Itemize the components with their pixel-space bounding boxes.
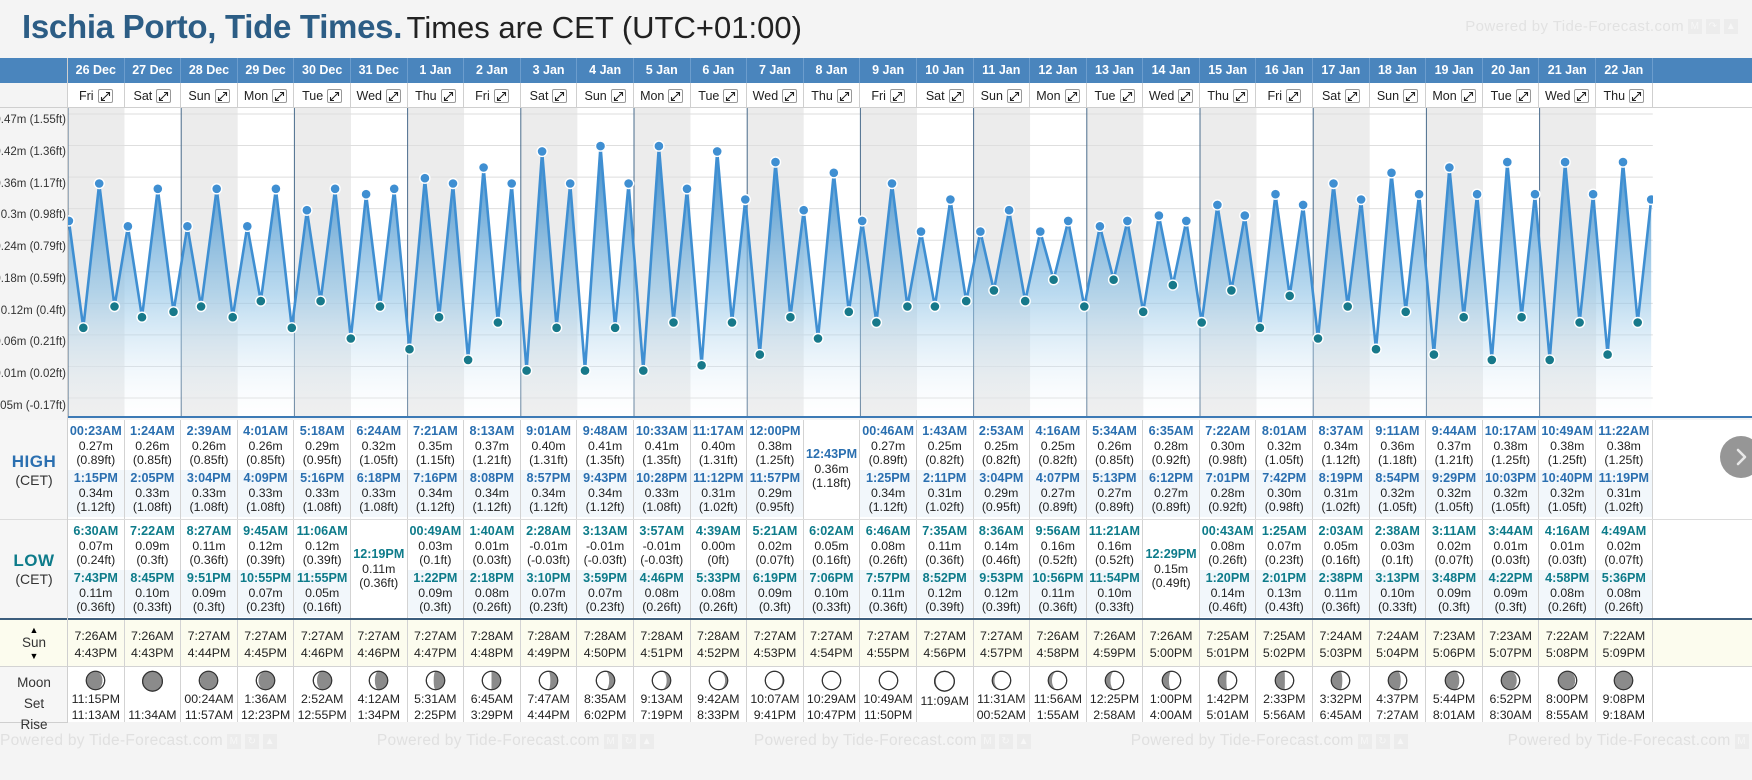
expand-icon[interactable] [1403, 89, 1418, 103]
low-tide-point [1313, 334, 1323, 344]
low-label: LOW [13, 551, 54, 571]
tide-time: 00:49AM [408, 524, 464, 539]
sun-cell-26: 7:22AM5:08PM [1539, 620, 1596, 666]
date-header-21[interactable]: 16 Jan [1256, 58, 1313, 83]
moonset-time: 11:09AM [921, 694, 969, 709]
date-header-6[interactable]: 1 Jan [408, 58, 465, 83]
page-header: Ischia Porto, Tide Times. Times are CET … [0, 0, 1752, 58]
moonset-time: 6:52PM [1489, 692, 1531, 707]
weekday-label: Mon [640, 84, 664, 108]
high-tide-point [857, 216, 867, 226]
low-tide-point [346, 334, 356, 344]
date-header-20[interactable]: 15 Jan [1200, 58, 1257, 83]
tide-height-ft: (1.21ft) [464, 453, 520, 468]
tide-time: 10:49AM [1539, 424, 1595, 439]
high-tide-point [389, 184, 399, 194]
sunset-time: 4:47PM [408, 646, 464, 660]
tide-time: 4:49AM [1596, 524, 1652, 539]
expand-icon[interactable] [1574, 89, 1589, 103]
expand-icon[interactable] [1233, 89, 1248, 103]
moon-cell-3: 1:36AM12:23PM [238, 667, 295, 722]
tide-height-ft: (0.92ft) [1200, 500, 1256, 515]
tide-height-m: 0.26m [238, 439, 294, 454]
tide-entry: 12:19PM0.11m(0.36ft) [351, 546, 407, 593]
tide-time: 7:43PM [68, 571, 124, 586]
tide-time: 11:54PM [1087, 571, 1143, 586]
low-tide-row: 6:30AM0.07m(0.24ft)7:43PM0.11m(0.36ft)7:… [68, 519, 1752, 618]
moonset-time: 2:52AM [301, 692, 343, 707]
tide-height-m: 0.09m [181, 586, 237, 601]
tide-entry: 7:42PM0.30m(0.98ft) [1256, 470, 1312, 517]
tide-time: 2:05PM [125, 471, 181, 486]
tide-time: 1:20PM [1200, 571, 1256, 586]
tide-height-ft: (0.3ft) [1426, 600, 1482, 615]
tide-entry: 4:46PM0.08m(0.26ft) [634, 570, 690, 617]
tide-height-m: 0.25m [974, 439, 1030, 454]
high-tide-point [1414, 189, 1424, 199]
tide-entry: 8:27AM0.11m(0.36ft) [181, 523, 237, 570]
date-header-3[interactable]: 29 Dec [238, 58, 295, 83]
tide-time: 8:08PM [464, 471, 520, 486]
tide-entry: 5:18AM0.29m(0.95ft) [294, 423, 350, 470]
tide-height-ft: (0.23ft) [521, 600, 577, 615]
low-tide-point [1197, 318, 1207, 328]
date-header-13[interactable]: 8 Jan [804, 58, 861, 83]
low-tide-point [961, 296, 971, 306]
moon-cell-14: 10:49AM11:50PM [860, 667, 917, 722]
tide-height-ft: (0.3ft) [181, 600, 237, 615]
sunrise-time: 7:24AM [1370, 629, 1426, 643]
tide-entry: 00:23AM0.27m(0.89ft) [68, 423, 124, 470]
moonrise-time: 4:00AM [1150, 708, 1192, 722]
expand-icon[interactable] [668, 89, 683, 103]
moonrise-time: 8:55AM [1546, 708, 1588, 722]
high-tide-cell-23: 9:11AM0.36m(1.18ft)8:54PM0.32m(1.05ft) [1370, 420, 1427, 519]
tide-height-m: 0.00m [691, 539, 747, 554]
tide-height-ft: (0.49ft) [1143, 576, 1199, 591]
low-tide-point [697, 360, 707, 370]
tide-height-ft: (0.26ft) [464, 600, 520, 615]
footer-logo-icon-2: ▲ [1394, 734, 1408, 749]
tide-entry: 1:25PM0.34m(1.12ft) [860, 470, 916, 517]
moon-cell-22: 3:32PM6:45AM [1313, 667, 1370, 722]
low-tide-cell-22: 2:03AM0.05m(0.16ft)2:38PM0.11m(0.36ft) [1313, 520, 1370, 618]
sun-row-label: ▲ Sun ▼ [0, 618, 68, 666]
tide-height-ft: (0.1ft) [408, 553, 464, 568]
low-tide-cell-18: 11:21AM0.16m(0.52ft)11:54PM0.10m(0.33ft) [1087, 520, 1144, 618]
date-row-corner [0, 58, 68, 83]
high-tide-point [887, 179, 897, 189]
sun-cell-6: 7:27AM4:47PM [408, 620, 465, 666]
logo-icon-1: M [1688, 19, 1702, 34]
sun-cell-2: 7:27AM4:44PM [181, 620, 238, 666]
date-header-7[interactable]: 2 Jan [464, 58, 521, 83]
tide-height-ft: (0.26ft) [860, 553, 916, 568]
low-tide-cell-14: 6:46AM0.08m(0.26ft)7:57PM0.11m(0.36ft) [860, 520, 917, 618]
moon-lit-area [492, 671, 501, 689]
expand-icon[interactable] [723, 89, 738, 103]
tide-height-m: 0.13m [1256, 586, 1312, 601]
tide-time: 2:01PM [1256, 571, 1312, 586]
date-header-15[interactable]: 10 Jan [917, 58, 974, 83]
date-header-5[interactable]: 31 Dec [351, 58, 408, 83]
low-tide-cell-3: 9:45AM0.12m(0.39ft)10:55PM0.07m(0.23ft) [238, 520, 295, 618]
tide-height-m: 0.29m [294, 439, 350, 454]
expand-icon[interactable] [494, 89, 509, 103]
tide-time: 3:04PM [974, 471, 1030, 486]
tide-entry: 4:22PM0.09m(0.3ft) [1483, 570, 1539, 617]
tide-height-ft: (0.95ft) [294, 453, 350, 468]
tide-height-m: 0.40m [691, 439, 747, 454]
tide-time: 8:54PM [1370, 471, 1426, 486]
high-tide-cell-4: 5:18AM0.29m(0.95ft)5:16PM0.33m(1.08ft) [294, 420, 351, 519]
tide-entry: 8:57PM0.34m(1.12ft) [521, 470, 577, 517]
date-header-26[interactable]: 21 Jan [1539, 58, 1596, 83]
tide-entry: 8:08PM0.34m(1.12ft) [464, 470, 520, 517]
tide-height-ft: (1.02ft) [691, 500, 747, 515]
tide-time: 6:24AM [351, 424, 407, 439]
tide-height-m: 0.07m [238, 586, 294, 601]
high-tide-point [829, 168, 839, 178]
expand-icon[interactable] [386, 89, 401, 103]
tide-height-m: 0.10m [804, 586, 860, 601]
tide-entry: 11:17AM0.40m(1.31ft) [691, 423, 747, 470]
tide-entry: 9:51PM0.09m(0.3ft) [181, 570, 237, 617]
moon-phase-icon [536, 670, 561, 691]
low-tide-point [375, 302, 385, 312]
date-header-12[interactable]: 7 Jan [747, 58, 804, 83]
high-tide-point [1271, 189, 1281, 199]
tide-entry: 5:13PM0.27m(0.89ft) [1087, 470, 1143, 517]
sun-cell-3: 7:27AM4:45PM [238, 620, 295, 666]
date-header-4[interactable]: 30 Dec [294, 58, 351, 83]
tide-time: 9:29PM [1426, 471, 1482, 486]
date-header-14[interactable]: 9 Jan [860, 58, 917, 83]
tide-height-m: 0.37m [464, 439, 520, 454]
sunset-time: 4:45PM [238, 646, 294, 660]
tide-time: 2:18PM [464, 571, 520, 586]
tide-time: 4:01AM [238, 424, 294, 439]
date-header-23[interactable]: 18 Jan [1370, 58, 1427, 83]
tide-entry: 3:59PM0.07m(0.23ft) [577, 570, 633, 617]
moon-phase-icon [310, 670, 335, 691]
tide-height-m: 0.07m [68, 539, 124, 554]
sunrise-time: 7:28AM [634, 629, 690, 643]
tide-height-ft: (0.85ft) [181, 453, 237, 468]
high-tide-point [1181, 216, 1191, 226]
tide-entry: 12:29PM0.15m(0.49ft) [1143, 546, 1199, 593]
sunset-time: 4:43PM [68, 646, 124, 660]
moon-cell-26: 8:00PM8:55AM [1539, 667, 1596, 722]
tide-entry: 10:33AM0.41m(1.35ft) [634, 423, 690, 470]
expand-icon[interactable] [1516, 89, 1531, 103]
high-tide-point [182, 221, 192, 231]
high-tide-cell-12: 12:00PM0.38m(1.25ft)11:57PM0.29m(0.95ft) [747, 420, 804, 519]
tide-height-ft: (0.23ft) [238, 600, 294, 615]
sunset-time: 4:59PM [1087, 646, 1143, 660]
high-tide-point [1004, 205, 1014, 215]
low-tide-point [1049, 275, 1059, 285]
expand-icon[interactable] [611, 89, 626, 103]
sunrise-arrow-icon: ▲ [22, 626, 46, 634]
high-tide-point [1530, 189, 1540, 199]
moonset-time: 12:25PM [1090, 692, 1139, 707]
gutter-divider [67, 58, 68, 722]
tide-height-ft: (0.26ft) [634, 600, 690, 615]
tide-time: 8:52PM [917, 571, 973, 586]
moonset-time: 8:35AM [584, 692, 626, 707]
tide-time: 7:42PM [1256, 471, 1312, 486]
moonrise-time: 9:41PM [754, 708, 796, 722]
tide-entry: 4:16AM0.01m(0.03ft) [1539, 523, 1595, 570]
tide-time: 7:21AM [408, 424, 464, 439]
high-tide-point [330, 184, 340, 194]
tide-height-ft: (1.12ft) [464, 500, 520, 515]
date-header-24[interactable]: 19 Jan [1426, 58, 1483, 83]
footer-watermark: Powered by Tide-Forecast.comM↻▲ [754, 732, 1031, 750]
tide-height-ft: (1.12ft) [68, 500, 124, 515]
tide-entry: 3:11AM0.02m(0.07ft) [1426, 523, 1482, 570]
expand-icon[interactable] [1345, 89, 1360, 103]
moon-cell-2: 00:24AM11:57AM [181, 667, 238, 722]
weekday-label: Sun [1377, 84, 1399, 108]
tide-height-ft: (0.3ft) [125, 553, 181, 568]
moon-phase-icon [593, 670, 618, 691]
weekday-header-19: Wed [1143, 83, 1200, 108]
high-tide-cell-6: 7:21AM0.35m(1.15ft)7:16PM0.34m(1.12ft) [408, 420, 465, 519]
expand-icon[interactable] [890, 89, 905, 103]
moon-cell-8: 7:47AM4:44PM [521, 667, 578, 722]
footer-logo-icon-2: ▲ [640, 734, 654, 749]
date-header-19[interactable]: 14 Jan [1143, 58, 1200, 83]
tide-height-m: 0.10m [125, 586, 181, 601]
tide-height-ft: (0.1ft) [1370, 553, 1426, 568]
date-header-8[interactable]: 3 Jan [521, 58, 578, 83]
expand-icon[interactable] [1629, 89, 1644, 103]
expand-icon[interactable] [327, 89, 342, 103]
tide-entry: 6:18PM0.33m(1.08ft) [351, 470, 407, 517]
moonrise-time: 11:13AM [72, 708, 120, 722]
tide-time: 9:01AM [521, 424, 577, 439]
tide-time: 1:25PM [860, 471, 916, 486]
tide-height-ft: (0.3ft) [408, 600, 464, 615]
tide-entry: 3:57AM-0.01m(-0.03ft) [634, 523, 690, 570]
tide-time: 9:45AM [238, 524, 294, 539]
tide-height-ft: (0.39ft) [294, 553, 350, 568]
moonset-time: 7:47AM [527, 692, 569, 707]
tide-time: 9:11AM [1370, 424, 1426, 439]
tide-time: 11:21AM [1087, 524, 1143, 539]
weekday-header-5: Wed [351, 83, 408, 108]
expand-icon[interactable] [441, 89, 456, 103]
tide-entry: 4:07PM0.27m(0.89ft) [1030, 470, 1086, 517]
tide-height-ft: (1.25ft) [747, 453, 803, 468]
high-tide-point [1122, 216, 1132, 226]
moonset-time: 10:29AM [807, 692, 856, 707]
tide-height-ft: (0.26ft) [1596, 600, 1652, 615]
tide-time: 4:16AM [1539, 524, 1595, 539]
tide-height-m: 0.11m [351, 562, 407, 577]
tide-height-ft: (0.26ft) [691, 600, 747, 615]
low-tide-point [1020, 296, 1030, 306]
tide-height-ft: (1.02ft) [1313, 500, 1369, 515]
date-header-2[interactable]: 28 Dec [181, 58, 238, 83]
sunrise-time: 7:22AM [1539, 629, 1595, 643]
moonrise-time: 3:29PM [471, 708, 513, 722]
tide-entry: 6:02AM0.05m(0.16ft) [804, 523, 860, 570]
expand-icon[interactable] [1065, 89, 1080, 103]
tide-entry: 4:39AM0.00m(0ft) [691, 523, 747, 570]
tide-time: 11:57PM [747, 471, 803, 486]
low-tide-cell-12: 5:21AM0.02m(0.07ft)6:19PM0.09m(0.3ft) [747, 520, 804, 618]
tide-time: 4:16AM [1030, 424, 1086, 439]
moon-lit-area [434, 671, 445, 689]
low-tide-cell-11: 4:39AM0.00m(0ft)5:33PM0.08m(0.26ft) [691, 520, 748, 618]
high-tide-point [1618, 157, 1628, 167]
date-header-27[interactable]: 22 Jan [1596, 58, 1653, 83]
weekday-label: Thu [1604, 84, 1626, 108]
tide-entry: 4:49AM0.02m(0.07ft) [1596, 523, 1652, 570]
weekday-label: Fri [871, 84, 886, 108]
tide-height-ft: (0.33ft) [125, 600, 181, 615]
expand-icon[interactable] [272, 89, 287, 103]
high-tide-point [448, 179, 458, 189]
date-header-11[interactable]: 6 Jan [691, 58, 748, 83]
weekday-header-2: Sun [181, 83, 238, 108]
expand-icon[interactable] [1286, 89, 1301, 103]
tide-height-m: 0.09m [408, 586, 464, 601]
high-tide-cell-22: 8:37AM0.34m(1.12ft)8:19PM0.31m(1.02ft) [1313, 420, 1370, 519]
date-header-25[interactable]: 20 Jan [1483, 58, 1540, 83]
tide-height-m: 0.38m [1596, 439, 1652, 454]
tide-time: 2:53AM [974, 424, 1030, 439]
tide-height-m: 0.33m [238, 486, 294, 501]
tide-time: 00:23AM [68, 424, 124, 439]
tide-height-ft: (0.46ft) [974, 553, 1030, 568]
tide-height-m: 0.27m [68, 439, 124, 454]
footer-watermark: Powered by Tide-Forecast.comM↻▲ [377, 732, 654, 750]
expand-icon[interactable] [98, 89, 113, 103]
expand-icon[interactable] [837, 89, 852, 103]
date-header-16[interactable]: 11 Jan [974, 58, 1031, 83]
tide-entry: 2:28AM-0.01m(-0.03ft) [521, 523, 577, 570]
expand-icon[interactable] [215, 89, 230, 103]
tide-time: 5:18AM [294, 424, 350, 439]
date-header-1[interactable]: 27 Dec [125, 58, 182, 83]
moon-phase-icon [253, 670, 278, 691]
high-tide-point [740, 195, 750, 205]
tide-height-m: 0.01m [1483, 539, 1539, 554]
sun-cell-9: 7:28AM4:50PM [577, 620, 634, 666]
expand-icon[interactable] [552, 89, 567, 103]
tide-height-ft: (1.05ft) [1370, 500, 1426, 515]
tide-time: 5:21AM [747, 524, 803, 539]
sun-cell-16: 7:27AM4:57PM [974, 620, 1031, 666]
tide-height-ft: (0.98ft) [1200, 453, 1256, 468]
expand-icon[interactable] [1007, 89, 1022, 103]
moon-cell-6: 5:31AM2:25PM [408, 667, 465, 722]
tide-height-ft: (0.3ft) [747, 600, 803, 615]
sun-cell-0: 7:26AM4:43PM [68, 620, 125, 666]
tide-time: 10:33AM [634, 424, 690, 439]
sunset-time: 4:57PM [974, 646, 1030, 660]
tide-height-ft: (1.02ft) [917, 500, 973, 515]
tide-time: 3:48PM [1426, 571, 1482, 586]
sunrise-time: 7:26AM [68, 629, 124, 643]
tide-entry: 8:45PM0.10m(0.33ft) [125, 570, 181, 617]
tide-height-ft: (0.03ft) [1483, 553, 1539, 568]
date-header-18[interactable]: 13 Jan [1087, 58, 1144, 83]
expand-icon[interactable] [782, 89, 797, 103]
date-header-22[interactable]: 17 Jan [1313, 58, 1370, 83]
high-tide-point [271, 184, 281, 194]
tide-height-ft: (0.95ft) [974, 500, 1030, 515]
tide-time: 3:13AM [577, 524, 633, 539]
tide-time: 10:56PM [1030, 571, 1086, 586]
high-tide-cell-13: 12:43PM0.36m(1.18ft) [804, 420, 861, 519]
weekday-header-6: Thu [408, 83, 465, 108]
tide-entry: 6:19PM0.09m(0.3ft) [747, 570, 803, 617]
tide-height-ft: (0.33ft) [804, 600, 860, 615]
expand-icon[interactable] [1178, 89, 1193, 103]
tide-height-m: 0.32m [1426, 486, 1482, 501]
y-axis-label-8: 0.01m (0.02ft) [0, 368, 66, 380]
tide-entry: 3:04PM0.29m(0.95ft) [974, 470, 1030, 517]
tide-height-ft: (1.15ft) [408, 453, 464, 468]
low-tide-point [137, 312, 147, 322]
moonrise-time: 2:25PM [414, 708, 456, 722]
high-tide-point [537, 146, 547, 156]
tide-height-m: 0.05m [294, 586, 350, 601]
tide-height-ft: (0.98ft) [1256, 500, 1312, 515]
expand-icon[interactable] [949, 89, 964, 103]
tide-entry: 8:13AM0.37m(1.21ft) [464, 423, 520, 470]
sunset-time: 4:56PM [917, 646, 973, 660]
date-header-10[interactable]: 5 Jan [634, 58, 691, 83]
tide-height-m: 0.38m [1483, 439, 1539, 454]
moonset-time: 11:56AM [1034, 692, 1082, 707]
sunrise-time: 7:25AM [1200, 629, 1256, 643]
tide-entry: 8:19PM0.31m(1.02ft) [1313, 470, 1369, 517]
tide-height-m: 0.05m [804, 539, 860, 554]
tide-height-m: 0.10m [1370, 586, 1426, 601]
sunrise-time: 7:26AM [125, 629, 181, 643]
expand-icon[interactable] [1461, 89, 1476, 103]
tide-height-m: 0.30m [1200, 439, 1256, 454]
y-axis-label-6: 0.12m (0.4ft) [1, 305, 66, 317]
expand-icon[interactable] [156, 89, 171, 103]
tide-height-m: 0.16m [1030, 539, 1086, 554]
tide-time: 3:10PM [521, 571, 577, 586]
low-tide-point [316, 296, 326, 306]
date-header-0[interactable]: 26 Dec [68, 58, 125, 83]
moon-cell-11: 9:42AM8:33PM [691, 667, 748, 722]
date-header-9[interactable]: 4 Jan [577, 58, 634, 83]
moonset-time: 9:08PM [1603, 692, 1645, 707]
weekday-label: Mon [1432, 84, 1456, 108]
tide-entry: 3:13AM-0.01m(-0.03ft) [577, 523, 633, 570]
date-header-17[interactable]: 12 Jan [1030, 58, 1087, 83]
tide-time: 9:51PM [181, 571, 237, 586]
expand-icon[interactable] [1120, 89, 1135, 103]
moonrise-time: 00:52AM [977, 708, 1026, 722]
high-tide-point [654, 141, 664, 151]
high-tide-point [1560, 157, 1570, 167]
tide-height-m: 0.10m [1087, 586, 1143, 601]
tide-height-m: 0.27m [860, 439, 916, 454]
low-tide-cell-27: 4:49AM0.02m(0.07ft)5:36PM0.08m(0.26ft) [1596, 520, 1653, 618]
tide-time: 7:16PM [408, 471, 464, 486]
